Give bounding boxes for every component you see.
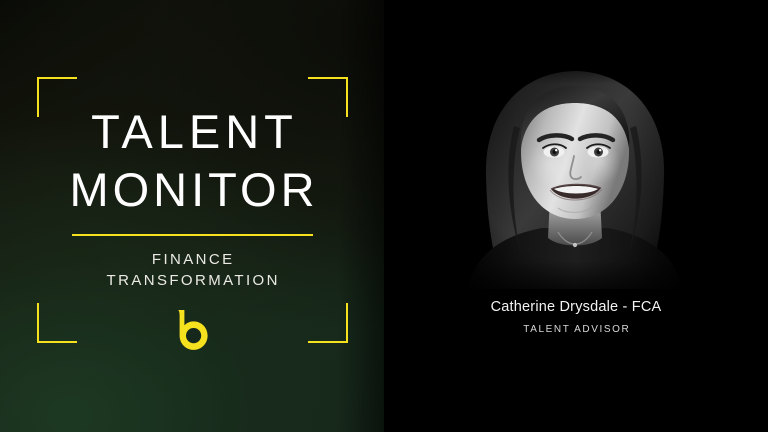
brand-logo (0, 310, 384, 350)
portrait-photo-icon (446, 56, 704, 289)
brand-b-logo-icon (175, 310, 209, 350)
profile-caption: Catherine Drysdale - FCA TALENT ADVISOR (384, 298, 768, 336)
person-role: TALENT ADVISOR (384, 323, 768, 336)
branding-content: TALENT MONITOR FINANCE TRANSFORMATION (0, 0, 384, 350)
avatar (446, 56, 704, 289)
subtitle-line-1: FINANCE (0, 249, 384, 270)
title-divider (72, 234, 313, 236)
page-title-line-2: MONITOR (0, 166, 384, 213)
title-slide: TALENT MONITOR FINANCE TRANSFORMATION (0, 0, 768, 432)
subtitle-block: FINANCE TRANSFORMATION (0, 249, 384, 292)
right-profile-panel: Catherine Drysdale - FCA TALENT ADVISOR (384, 0, 768, 432)
page-title-line-1: TALENT (0, 108, 384, 155)
person-name: Catherine Drysdale - FCA (384, 298, 768, 317)
left-branding-panel: TALENT MONITOR FINANCE TRANSFORMATION (0, 0, 384, 432)
subtitle-line-2: TRANSFORMATION (0, 270, 384, 291)
